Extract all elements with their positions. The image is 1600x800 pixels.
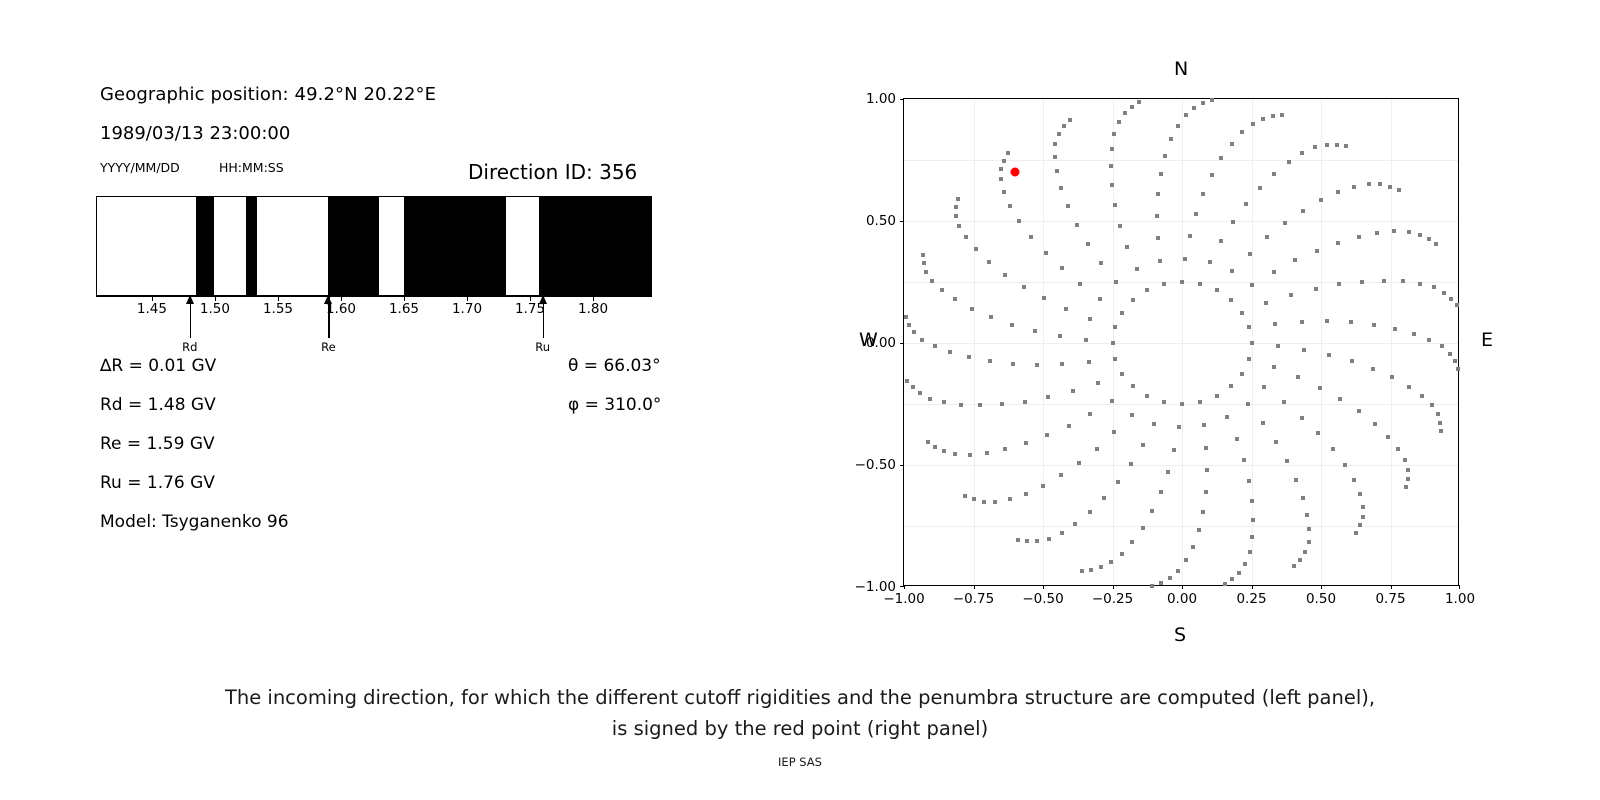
direction-point	[1163, 154, 1167, 158]
direction-point	[1300, 416, 1304, 420]
direction-point	[1272, 270, 1276, 274]
plot-ytick-label: 1.00	[866, 91, 896, 107]
plot-gridline-horizontal	[904, 221, 1458, 222]
direction-point	[1183, 257, 1187, 261]
direction-point	[1301, 496, 1305, 500]
direction-point	[942, 449, 946, 453]
direction-point	[963, 494, 967, 498]
direction-point	[1120, 372, 1124, 376]
direction-point	[1319, 198, 1323, 202]
plot-ytick	[900, 586, 904, 587]
plot-ytick	[900, 343, 904, 344]
direction-point	[1265, 235, 1269, 239]
direction-point	[1407, 385, 1411, 389]
model-value: Model: Tsyganenko 96	[100, 512, 289, 532]
direction-point	[1361, 515, 1365, 519]
direction-point	[1087, 360, 1091, 364]
direction-point	[959, 403, 963, 407]
direction-point	[1455, 303, 1459, 307]
direction-point	[1113, 325, 1117, 329]
direction-point	[972, 497, 976, 501]
plot-gridline-vertical	[1043, 99, 1044, 585]
direction-point	[1003, 273, 1007, 277]
direction-point	[1077, 461, 1081, 465]
direction-point	[1159, 490, 1163, 494]
direction-point	[1194, 212, 1198, 216]
date-format-hint: YYYY/MM/DD	[100, 160, 180, 175]
direction-point	[1210, 173, 1214, 177]
direction-point	[1208, 260, 1212, 264]
direction-point	[1060, 266, 1064, 270]
plot-xtick	[1459, 585, 1460, 589]
direction-point	[1230, 269, 1234, 273]
compass-north-label: N	[1174, 58, 1188, 80]
figure-caption: The incoming direction, for which the di…	[0, 682, 1600, 744]
direction-point	[1303, 550, 1307, 554]
plot-xtick	[1252, 585, 1253, 589]
direction-point	[1029, 235, 1033, 239]
direction-point	[1010, 323, 1014, 327]
direction-point	[1188, 234, 1192, 238]
direction-point	[1059, 473, 1063, 477]
plot-gridline-horizontal	[904, 465, 1458, 466]
direction-point	[1373, 422, 1377, 426]
plot-xtick	[1391, 585, 1392, 589]
direction-point	[1300, 320, 1304, 324]
direction-point	[1059, 186, 1063, 190]
direction-point	[1024, 492, 1028, 496]
direction-point	[1449, 297, 1453, 301]
direction-point	[1024, 441, 1028, 445]
direction-point	[1045, 433, 1049, 437]
direction-point	[1407, 230, 1411, 234]
direction-point	[1314, 287, 1318, 291]
direction-point	[970, 307, 974, 311]
penumbra-axis-tick-label: 1.65	[389, 301, 419, 317]
plot-xtick	[974, 585, 975, 589]
direction-point	[1390, 375, 1394, 379]
marker-label: Re	[321, 340, 336, 354]
direction-point	[1033, 329, 1037, 333]
direction-point	[964, 235, 968, 239]
penumbra-axis-tick-label: 1.70	[452, 301, 482, 317]
direction-point	[1338, 397, 1342, 401]
direction-point	[1017, 219, 1021, 223]
direction-id-label: Direction ID: 356	[468, 160, 637, 184]
plot-ytick-label: 0.50	[866, 213, 896, 229]
direction-point	[1086, 242, 1090, 246]
direction-point	[985, 451, 989, 455]
direction-point	[1158, 259, 1162, 263]
direction-point	[1396, 447, 1400, 451]
direction-point	[1420, 394, 1424, 398]
direction-point	[1058, 334, 1062, 338]
direction-point	[1406, 468, 1410, 472]
plot-ytick	[900, 465, 904, 466]
direction-point	[1361, 505, 1365, 509]
direction-point	[1230, 577, 1234, 581]
direction-point	[1247, 479, 1251, 483]
direction-point	[1066, 204, 1070, 208]
direction-point	[1053, 155, 1057, 159]
direction-point	[1305, 513, 1309, 517]
direction-point	[1427, 338, 1431, 342]
plot-xtick	[1113, 585, 1114, 589]
direction-point	[988, 359, 992, 363]
direction-point	[1152, 422, 1156, 426]
direction-point	[1023, 400, 1027, 404]
direction-point	[1002, 159, 1006, 163]
direction-point	[940, 288, 944, 292]
plot-xtick-label: 0.50	[1306, 591, 1336, 607]
credit-label: IEP SAS	[0, 755, 1600, 769]
direction-point	[1440, 344, 1444, 348]
direction-point	[907, 323, 911, 327]
direction-point	[1117, 120, 1121, 124]
direction-point	[1248, 252, 1252, 256]
direction-point	[1456, 367, 1460, 371]
direction-point	[1180, 280, 1184, 284]
penumbra-axis-tick-label: 1.50	[200, 301, 230, 317]
direction-point	[1123, 111, 1127, 115]
penumbra-chart	[96, 196, 652, 296]
direction-point	[1240, 130, 1244, 134]
penumbra-axis-tick-label: 1.80	[578, 301, 608, 317]
direction-point	[1331, 447, 1335, 451]
plot-xtick-label: −0.25	[1092, 591, 1133, 607]
direction-point	[1073, 522, 1077, 526]
direction-scatter-plot: −1.00−0.75−0.50−0.250.000.250.500.751.00…	[903, 98, 1459, 586]
direction-point	[1201, 510, 1205, 514]
direction-point	[1025, 539, 1029, 543]
direction-point	[968, 453, 972, 457]
direction-point	[1244, 202, 1248, 206]
plot-ytick	[900, 221, 904, 222]
direction-point	[1280, 113, 1284, 117]
direction-point	[1180, 402, 1184, 406]
direction-point	[1300, 151, 1304, 155]
direction-point	[1274, 440, 1278, 444]
direction-point	[1289, 293, 1293, 297]
direction-point	[1301, 209, 1305, 213]
direction-point	[1261, 421, 1265, 425]
direction-point	[1067, 424, 1071, 428]
direction-point	[1089, 568, 1093, 572]
direction-point	[1006, 151, 1010, 155]
direction-point	[1412, 332, 1416, 336]
direction-point	[956, 197, 960, 201]
direction-point	[924, 270, 928, 274]
direction-point	[904, 315, 908, 319]
penumbra-axis: 1.451.501.551.601.651.701.751.80RdReRu	[96, 296, 652, 310]
figure-root: Geographic position: 49.2°N 20.22°E 1989…	[0, 0, 1600, 800]
direction-point	[1155, 214, 1159, 218]
direction-point	[993, 500, 997, 504]
direction-point	[1349, 320, 1353, 324]
direction-point	[1293, 258, 1297, 262]
direction-point	[1135, 267, 1139, 271]
direction-point	[1044, 251, 1048, 255]
direction-point	[1336, 241, 1340, 245]
direction-point	[1318, 386, 1322, 390]
theta-value: θ = 66.03°	[568, 356, 661, 376]
direction-point	[1008, 204, 1012, 208]
direction-point	[1242, 458, 1246, 462]
direction-point	[1198, 400, 1202, 404]
compass-south-label: S	[1174, 624, 1186, 646]
plot-gridline-horizontal	[904, 526, 1458, 527]
direction-point	[1219, 156, 1223, 160]
direction-point	[1042, 296, 1046, 300]
direction-point	[1392, 229, 1396, 233]
direction-point	[1439, 429, 1443, 433]
plot-xtick	[904, 585, 905, 589]
direction-point	[1145, 394, 1149, 398]
direction-point	[1088, 317, 1092, 321]
penumbra-axis-tick-label: 1.55	[263, 301, 293, 317]
direction-point	[1011, 362, 1015, 366]
plot-ytick	[900, 99, 904, 100]
direction-point	[1235, 437, 1239, 441]
direction-point	[1156, 192, 1160, 196]
direction-point	[1434, 242, 1438, 246]
direction-point	[1098, 297, 1102, 301]
direction-point	[982, 500, 986, 504]
direction-point	[1404, 485, 1408, 489]
direction-point	[1448, 352, 1452, 356]
direction-point	[1120, 311, 1124, 315]
direction-point	[1344, 144, 1348, 148]
direction-point	[1184, 113, 1188, 117]
direction-point	[1113, 203, 1117, 207]
direction-point	[1393, 327, 1397, 331]
direction-point	[1264, 301, 1268, 305]
direction-point	[1285, 459, 1289, 463]
direction-point	[1273, 322, 1277, 326]
direction-point	[1055, 169, 1059, 173]
direction-point	[1022, 285, 1026, 289]
direction-point	[1262, 385, 1266, 389]
direction-point	[1246, 402, 1250, 406]
caption-line-2: is signed by the red point (right panel)	[0, 713, 1600, 744]
direction-point	[1110, 399, 1114, 403]
direction-point	[1215, 288, 1219, 292]
direction-point	[1003, 447, 1007, 451]
direction-point	[1068, 118, 1072, 122]
direction-point	[1240, 372, 1244, 376]
direction-point	[957, 224, 961, 228]
direction-point	[953, 297, 957, 301]
direction-point	[1237, 571, 1241, 575]
direction-point	[1427, 237, 1431, 241]
direction-point	[1064, 307, 1068, 311]
marker-label: Rd	[182, 340, 197, 354]
direction-point	[1276, 344, 1280, 348]
plot-xtick	[1182, 585, 1183, 589]
direction-point	[1114, 280, 1118, 284]
direction-point	[1272, 365, 1276, 369]
direction-point	[1251, 122, 1255, 126]
direction-point	[1243, 562, 1247, 566]
direction-point	[1159, 581, 1163, 585]
right-panel: N S E W −1.00−0.75−0.50−0.250.000.250.50…	[780, 0, 1600, 660]
direction-point	[1352, 478, 1356, 482]
selected-direction-point[interactable]	[1011, 168, 1020, 177]
marker-label: Ru	[535, 340, 550, 354]
direction-point	[1271, 114, 1275, 118]
direction-point	[1176, 124, 1180, 128]
direction-point	[999, 167, 1003, 171]
direction-point	[1116, 480, 1120, 484]
direction-point	[1272, 172, 1276, 176]
penumbra-band	[328, 197, 379, 295]
direction-point	[905, 379, 909, 383]
re-value: Re = 1.59 GV	[100, 434, 215, 454]
direction-point	[1307, 540, 1311, 544]
direction-point	[1261, 117, 1265, 121]
direction-point	[1202, 423, 1206, 427]
direction-point	[1099, 565, 1103, 569]
direction-point	[1129, 462, 1133, 466]
direction-point	[1230, 142, 1234, 146]
direction-point	[1060, 362, 1064, 366]
direction-point	[954, 214, 958, 218]
direction-point	[1287, 160, 1291, 164]
direction-point	[1418, 233, 1422, 237]
direction-point	[1352, 185, 1356, 189]
direction-point	[942, 400, 946, 404]
direction-point	[1357, 235, 1361, 239]
direction-point	[1215, 394, 1219, 398]
plot-xtick-label: 0.25	[1236, 591, 1266, 607]
direction-point	[967, 355, 971, 359]
direction-point	[1008, 497, 1012, 501]
direction-point	[1075, 223, 1079, 227]
direction-point	[1335, 143, 1339, 147]
plot-gridline-vertical	[974, 99, 975, 585]
direction-point	[1250, 499, 1254, 503]
direction-point	[1125, 245, 1129, 249]
phi-value: φ = 310.0°	[568, 395, 661, 415]
plot-ytick-label: −0.50	[855, 457, 896, 473]
direction-point	[1166, 470, 1170, 474]
direction-point	[1360, 280, 1364, 284]
direction-point	[922, 261, 926, 265]
direction-point	[1046, 395, 1050, 399]
direction-point	[1109, 560, 1113, 564]
direction-point	[933, 344, 937, 348]
direction-point	[1315, 249, 1319, 253]
direction-point	[912, 330, 916, 334]
plot-xtick-label: 1.00	[1445, 591, 1475, 607]
direction-point	[1282, 400, 1286, 404]
direction-point	[1204, 490, 1208, 494]
marker-arrowhead	[186, 295, 194, 304]
direction-point	[1191, 545, 1195, 549]
direction-point	[1080, 569, 1084, 573]
direction-point	[1047, 537, 1051, 541]
direction-point	[1156, 236, 1160, 240]
direction-point	[1247, 357, 1251, 361]
penumbra-axis-line	[96, 296, 652, 297]
time-format-hint: HH:MM:SS	[219, 160, 284, 175]
direction-point	[1307, 527, 1311, 531]
direction-point	[1078, 282, 1082, 286]
direction-point	[1343, 463, 1347, 467]
direction-point	[1137, 100, 1141, 104]
direction-point	[1388, 185, 1392, 189]
direction-point	[1204, 446, 1208, 450]
direction-point	[1292, 564, 1296, 568]
penumbra-band	[196, 197, 214, 295]
direction-point	[1053, 142, 1057, 146]
direction-point	[953, 452, 957, 456]
compass-east-label: E	[1481, 329, 1493, 351]
left-panel: Geographic position: 49.2°N 20.22°E 1989…	[0, 0, 780, 660]
direction-point	[1131, 298, 1135, 302]
direction-point	[1357, 409, 1361, 413]
direction-point	[1130, 105, 1134, 109]
direction-point	[1210, 98, 1214, 102]
direction-point	[1112, 430, 1116, 434]
direction-point	[1035, 363, 1039, 367]
direction-point	[1367, 182, 1371, 186]
direction-point	[1229, 384, 1233, 388]
direction-point	[1041, 484, 1045, 488]
penumbra-bar	[96, 196, 652, 296]
direction-point	[1172, 448, 1176, 452]
direction-point	[1112, 132, 1116, 136]
direction-point	[1430, 403, 1434, 407]
direction-point	[1000, 402, 1004, 406]
direction-point	[1184, 558, 1188, 562]
plot-xtick-label: −0.75	[953, 591, 994, 607]
direction-point	[926, 440, 930, 444]
direction-point	[1168, 576, 1172, 580]
direction-point	[1150, 584, 1154, 588]
direction-point	[1325, 319, 1329, 323]
direction-point	[1162, 400, 1166, 404]
caption-line-1: The incoming direction, for which the di…	[225, 686, 1375, 709]
direction-point	[1401, 279, 1405, 283]
direction-point	[948, 350, 952, 354]
direction-point	[1327, 353, 1331, 357]
direction-point	[933, 445, 937, 449]
direction-point	[987, 260, 991, 264]
direction-point	[1201, 192, 1205, 196]
direction-point	[1095, 447, 1099, 451]
direction-point	[1113, 357, 1117, 361]
plot-gridline-horizontal	[904, 160, 1458, 161]
direction-point	[1382, 279, 1386, 283]
direction-point	[1438, 421, 1442, 425]
direction-point	[1130, 413, 1134, 417]
geographic-position-label: Geographic position: 49.2°N 20.22°E	[100, 84, 436, 105]
direction-point	[1432, 285, 1436, 289]
plot-xtick	[1321, 585, 1322, 589]
delta-r-value: ∆R = 0.01 GV	[100, 356, 216, 376]
direction-point	[1250, 283, 1254, 287]
direction-point	[978, 403, 982, 407]
direction-point	[1231, 220, 1235, 224]
direction-point	[1223, 582, 1227, 586]
direction-point	[974, 247, 978, 251]
direction-point	[921, 253, 925, 257]
direction-point	[1130, 540, 1134, 544]
direction-point	[1283, 221, 1287, 225]
plot-gridline-vertical	[1391, 99, 1392, 585]
direction-point	[918, 391, 922, 395]
